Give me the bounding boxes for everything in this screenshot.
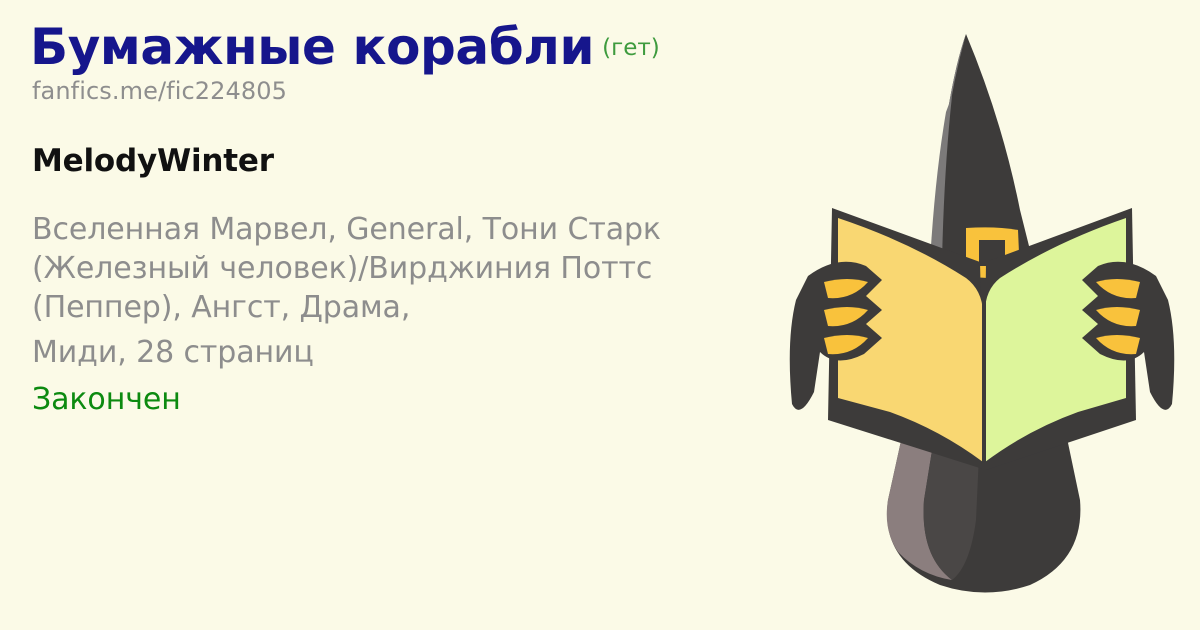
witch-reading-illustration xyxy=(780,0,1200,630)
text-column: Бумажные корабли(гет) fanfics.me/fic2248… xyxy=(30,22,770,419)
preview-card: Бумажные корабли(гет) fanfics.me/fic2248… xyxy=(0,0,1200,630)
title-category-label: (гет) xyxy=(602,35,660,61)
status-badge: Закончен xyxy=(32,380,770,419)
length-pages-line: Миди, 28 страниц xyxy=(32,333,742,372)
title-text: Бумажные корабли xyxy=(30,18,594,76)
witch-reading-book-icon xyxy=(780,0,1200,630)
page-title: Бумажные корабли(гет) xyxy=(30,22,770,72)
author-name[interactable]: MelodyWinter xyxy=(32,144,770,178)
fandom-tags-line: Вселенная Марвел, General, Тони Старк (Ж… xyxy=(32,210,742,327)
source-url[interactable]: fanfics.me/fic224805 xyxy=(32,78,770,106)
book-spine xyxy=(982,280,986,470)
metadata-block: Вселенная Марвел, General, Тони Старк (Ж… xyxy=(32,210,770,372)
